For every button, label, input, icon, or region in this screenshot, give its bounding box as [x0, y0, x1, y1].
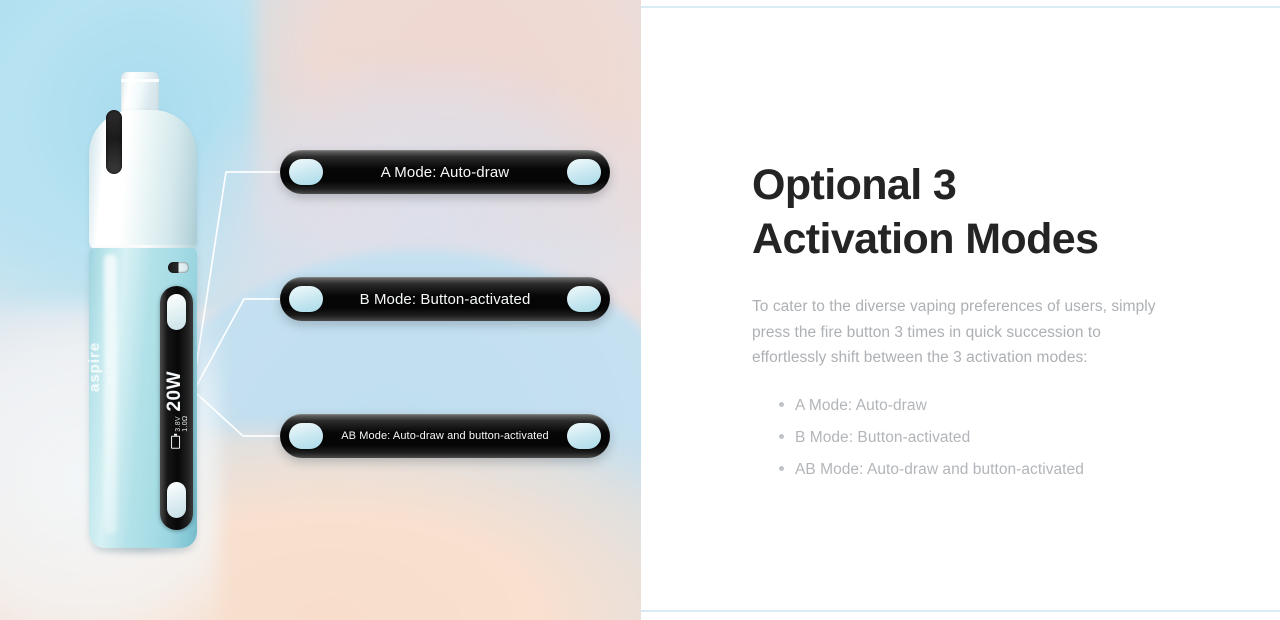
product-visual-panel: 3.8V 1.0Ω 20W aspire pod mod A Mode: Aut…: [0, 0, 641, 620]
mode-label: A Mode: Auto-draw: [795, 397, 927, 414]
bullet-icon: [779, 466, 784, 471]
vape-device: 3.8V 1.0Ω 20W aspire pod mod: [84, 72, 202, 556]
battery-icon: [171, 436, 180, 449]
description-panel: Optional 3 Activation Modes To cater to …: [641, 0, 1280, 620]
bottom-divider: [641, 610, 1280, 612]
oled-display: 3.8V 1.0Ω 20W: [160, 342, 193, 478]
list-item: A Mode: Auto-draw: [779, 394, 1222, 426]
list-item: AB Mode: Auto-draw and button-activated: [779, 458, 1222, 490]
product-feature-slide: 3.8V 1.0Ω 20W aspire pod mod A Mode: Aut…: [0, 0, 1280, 620]
callout-label-ab-mode: AB Mode: Auto-draw and button-activated: [323, 430, 567, 442]
fire-button-lower[interactable]: [167, 482, 186, 518]
brand-logo: aspire: [86, 272, 103, 392]
callout-label-a-mode: A Mode: Auto-draw: [323, 164, 567, 181]
description-content: Optional 3 Activation Modes To cater to …: [752, 158, 1222, 490]
oled-resistance: 1.0Ω: [182, 416, 189, 432]
bullet-icon: [779, 402, 784, 407]
activation-modes-list: A Mode: Auto-draw B Mode: Button-activat…: [752, 394, 1222, 490]
callout-pill-ab-mode[interactable]: AB Mode: Auto-draw and button-activated: [280, 414, 610, 458]
pill-button-left-icon: [289, 423, 323, 449]
bullet-icon: [779, 434, 784, 439]
callout-pill-a-mode[interactable]: A Mode: Auto-draw: [280, 150, 610, 194]
description-paragraph: To cater to the diverse vaping preferenc…: [752, 294, 1172, 370]
top-divider: [641, 6, 1280, 8]
pill-button-left-icon: [289, 286, 323, 312]
pill-button-right-icon: [567, 159, 601, 185]
headline-line-1: Optional 3: [752, 161, 956, 209]
callout-pill-b-mode[interactable]: B Mode: Button-activated: [280, 277, 610, 321]
pill-button-right-icon: [567, 286, 601, 312]
mode-label: B Mode: Button-activated: [795, 429, 970, 446]
pill-button-left-icon: [289, 159, 323, 185]
fire-button[interactable]: [167, 294, 186, 330]
callout-label-b-mode: B Mode: Button-activated: [323, 291, 567, 308]
mode-label: AB Mode: Auto-draw and button-activated: [795, 461, 1084, 478]
page-title: Optional 3 Activation Modes: [752, 158, 1222, 266]
oled-screen-strip: 3.8V 1.0Ω 20W: [160, 286, 193, 530]
oled-voltage: 3.8V: [175, 416, 182, 432]
pod-window-slot-icon: [106, 110, 122, 174]
oled-wattage: 20W: [164, 371, 186, 412]
brand-sublabel: pod mod: [106, 284, 113, 384]
airflow-switch-icon: [168, 262, 189, 273]
list-item: B Mode: Button-activated: [779, 426, 1222, 458]
headline-line-2: Activation Modes: [752, 212, 1222, 266]
pill-button-right-icon: [567, 423, 601, 449]
